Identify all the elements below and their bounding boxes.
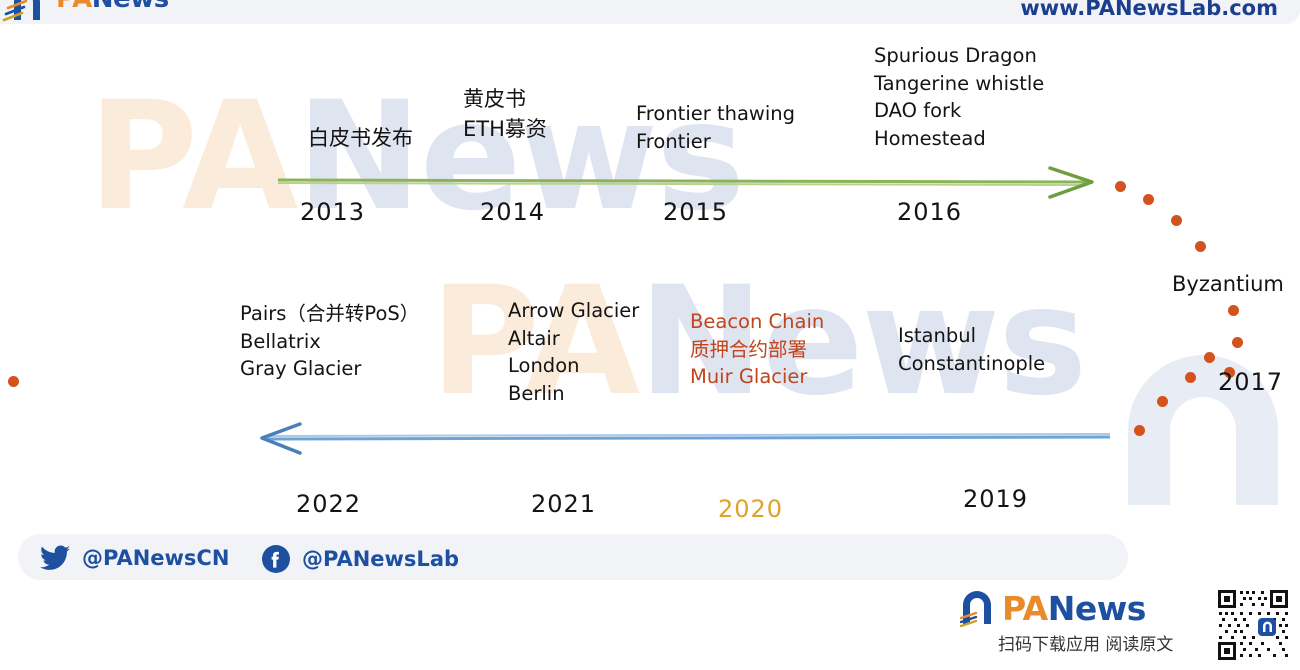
curve-dot [1204, 352, 1215, 363]
event-block-2019: Istanbul Constantinople [898, 322, 1045, 377]
watermark-pa-top: PA [88, 70, 296, 244]
event-line: Berlin [508, 380, 639, 408]
event-line: Gray Glacier [240, 355, 419, 383]
event-line: Tangerine whistle [874, 70, 1044, 98]
event-line: Frontier thawing [636, 100, 795, 128]
curve-dot [1195, 241, 1206, 252]
curve-dot [1143, 194, 1154, 205]
event-line: Frontier [636, 128, 795, 156]
curve-dot [1134, 425, 1145, 436]
event-line: 白皮书发布 [308, 124, 413, 154]
event-line: DAO fork [874, 97, 1044, 125]
event-line: Homestead [874, 125, 1044, 153]
year-label-2019: 2019 [963, 485, 1028, 513]
facebook-icon [262, 545, 290, 573]
year-label-2021: 2021 [531, 490, 596, 518]
curve-dot [1185, 372, 1196, 383]
header-logo-news: News [92, 0, 169, 14]
event-line: 黄皮书 [463, 85, 547, 115]
brand-name: PANews [1002, 589, 1146, 628]
curve-dot [1232, 337, 1243, 348]
social-facebook[interactable]: @PANewsLab [262, 545, 459, 573]
panews-arch-logo-icon [960, 588, 994, 628]
infographic-page: PANews PANews 白皮书发布 黄皮书 ETH募资 Frontier t… [0, 0, 1300, 670]
social-twitter[interactable]: @PANewsCN [40, 545, 229, 571]
facebook-handle: @PANewsLab [302, 547, 459, 571]
year-label-2013: 2013 [300, 198, 365, 226]
brand-name-pa: PA [1002, 589, 1048, 628]
event-line: 质押合约部署 [690, 336, 824, 364]
brand-block: PANews 扫码下载应用 阅读原文 [960, 588, 1190, 655]
header-url: www.PANewsLab.com [1020, 0, 1278, 20]
header-logo-text: PANews [56, 0, 169, 14]
header-logo-pa: PA [56, 0, 92, 14]
curve-dot [8, 376, 19, 387]
curve-dot [1171, 215, 1182, 226]
event-block-2022: Pairs（合并转PoS） Bellatrix Gray Glacier [240, 300, 419, 383]
event-line: Arrow Glacier [508, 297, 639, 325]
event-line: London [508, 352, 639, 380]
twitter-icon [40, 545, 70, 571]
event-line: Altair [508, 325, 639, 353]
event-block-2014: 黄皮书 ETH募资 [463, 85, 547, 145]
year-label-2014: 2014 [480, 198, 545, 226]
twitter-handle: @PANewsCN [82, 546, 229, 570]
event-line: ETH募资 [463, 115, 547, 145]
year-label-2022: 2022 [296, 490, 361, 518]
event-line: Constantinople [898, 350, 1045, 378]
curve-label-byzantium: Byzantium [1172, 272, 1284, 296]
event-block-2020: Beacon Chain 质押合约部署 Muir Glacier [690, 308, 824, 391]
event-line: Istanbul [898, 322, 1045, 350]
curve-dot [1115, 181, 1126, 192]
year-label-2017: 2017 [1218, 368, 1283, 396]
brand-name-news: News [1048, 589, 1146, 628]
event-line: Pairs（合并转PoS） [240, 300, 419, 328]
watermark-panews-top: PANews [88, 70, 743, 244]
year-label-2015: 2015 [663, 198, 728, 226]
event-block-2016: Spurious Dragon Tangerine whistle DAO fo… [874, 42, 1044, 153]
event-block-2021: Arrow Glacier Altair London Berlin [508, 297, 639, 408]
brand-caption: 扫码下载应用 阅读原文 [998, 630, 1190, 655]
event-line: Muir Glacier [690, 363, 824, 391]
year-label-2016: 2016 [897, 198, 962, 226]
curve-dot [1157, 396, 1168, 407]
event-block-2015: Frontier thawing Frontier [636, 100, 795, 155]
qr-code[interactable] [1216, 588, 1290, 662]
curve-dot [1228, 305, 1239, 316]
brand-row: PANews [960, 588, 1190, 628]
event-line: Bellatrix [240, 328, 419, 356]
event-line: Beacon Chain [690, 308, 824, 336]
event-block-2013: 白皮书发布 [308, 124, 413, 154]
year-label-2020: 2020 [718, 495, 783, 523]
event-line: Spurious Dragon [874, 42, 1044, 70]
